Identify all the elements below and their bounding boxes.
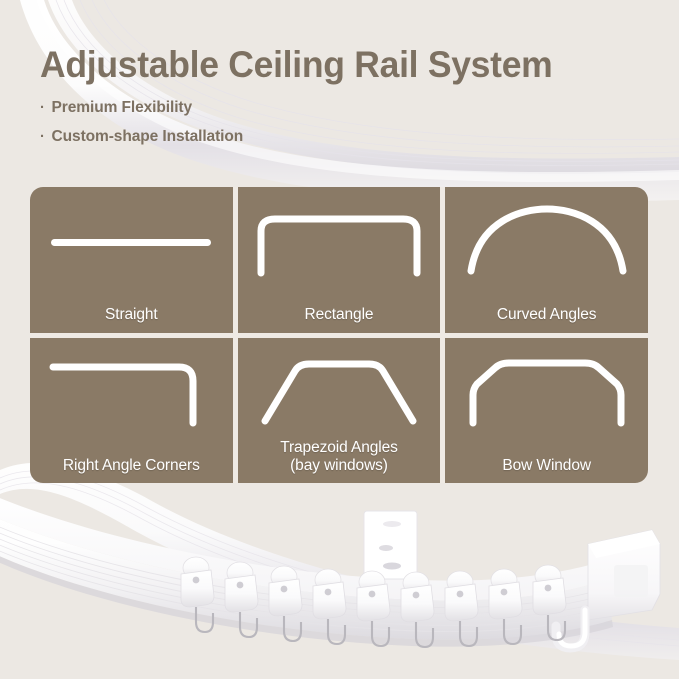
header-block: Adjustable Ceiling Rail System · Premium… xyxy=(40,46,660,157)
feature-bullet-2-text: Custom-shape Installation xyxy=(52,128,244,146)
shape-cell-curved-angles: Curved Angles xyxy=(445,187,648,333)
shape-cell-trapezoid-angles: Trapezoid Angles (bay windows) xyxy=(238,338,441,484)
feature-bullet-2: · Custom-shape Installation xyxy=(40,128,641,146)
feature-bullet-1-text: Premium Flexibility xyxy=(52,99,192,117)
feature-bullets: · Premium Flexibility · Custom-shape Ins… xyxy=(40,99,660,146)
shape-cell-rectangle: Rectangle xyxy=(238,187,441,333)
page-title: Adjustable Ceiling Rail System xyxy=(40,46,635,83)
shape-label-line1: Trapezoid Angles xyxy=(280,439,398,456)
shape-label-line1: Right Angle Corners xyxy=(63,457,200,474)
shape-options-grid: Straight Rectangle Curved Angles xyxy=(30,187,648,483)
shape-label-line2: (bay windows) xyxy=(280,457,398,474)
product-infographic: Adjustable Ceiling Rail System · Premium… xyxy=(0,0,679,679)
right-angle-rail-icon xyxy=(30,344,233,439)
shape-cell-curved-angles-label: Curved Angles xyxy=(497,306,597,323)
rectangle-rail-icon xyxy=(238,193,441,288)
shape-cell-right-angle-corners: Right Angle Corners xyxy=(30,338,233,484)
shape-label-line1: Bow Window xyxy=(502,457,591,474)
shape-cell-trapezoid-angles-label: Trapezoid Angles (bay windows) xyxy=(280,439,398,474)
trapezoid-rail-icon xyxy=(238,344,441,439)
straight-rail-icon xyxy=(30,193,233,288)
bullet-dot-icon: · xyxy=(40,129,45,144)
shape-label-line1: Curved Angles xyxy=(497,306,597,323)
shape-label-line1: Rectangle xyxy=(305,306,374,323)
product-photo-rail xyxy=(0,470,679,679)
feature-bullet-1: · Premium Flexibility xyxy=(40,99,641,117)
curved-arc-rail-icon xyxy=(445,193,648,288)
shape-cell-right-angle-corners-label: Right Angle Corners xyxy=(63,457,200,474)
shape-cell-straight-label: Straight xyxy=(105,306,158,323)
shape-cell-straight: Straight xyxy=(30,187,233,333)
shape-cell-bow-window-label: Bow Window xyxy=(502,457,591,474)
shape-label-line1: Straight xyxy=(105,306,158,323)
shape-cell-bow-window: Bow Window xyxy=(445,338,648,484)
ceiling-mount-bracket xyxy=(364,511,417,579)
rail-end-cap xyxy=(588,530,660,620)
shape-cell-rectangle-label: Rectangle xyxy=(305,306,374,323)
bullet-dot-icon: · xyxy=(40,100,45,115)
bow-window-rail-icon xyxy=(445,344,648,439)
